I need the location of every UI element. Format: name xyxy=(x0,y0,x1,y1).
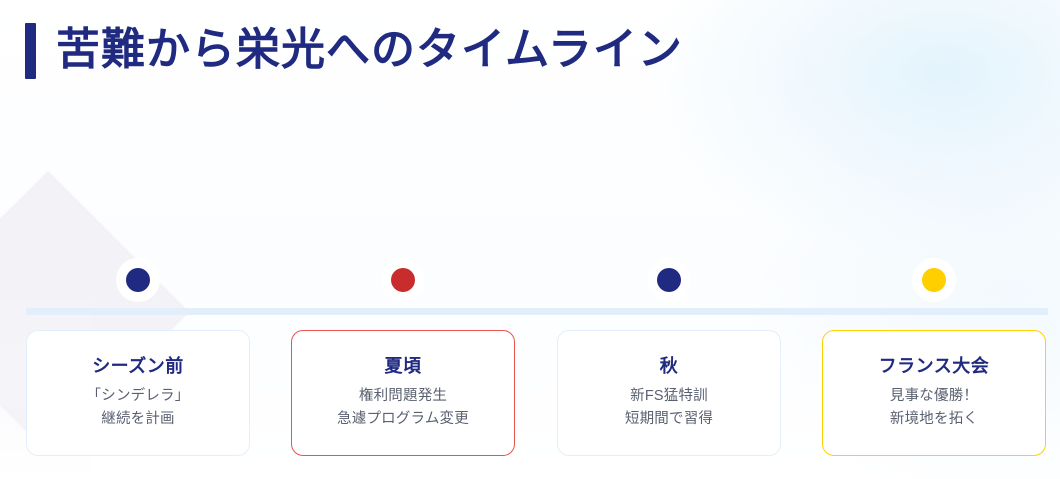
slide-canvas: 苦難から栄光へのタイムライン シーズン前 「シンデレラ」 継続を計画 夏頃 xyxy=(0,0,1060,479)
timeline-card-line-2-2: 急遽プログラム変更 xyxy=(337,408,469,431)
timeline-dot-3 xyxy=(657,268,681,292)
timeline-card-line-1-2: 継続を計画 xyxy=(87,408,190,431)
timeline-card-body-1: 「シンデレラ」 継続を計画 xyxy=(87,385,190,431)
timeline-card-line-3-2: 短期間で習得 xyxy=(625,408,713,431)
timeline-dot-ring-4 xyxy=(912,258,956,302)
timeline: シーズン前 「シンデレラ」 継続を計画 夏頃 権利問題発生 急遽プログラム変更 xyxy=(0,0,1060,479)
timeline-card-title-2: 夏頃 xyxy=(385,353,422,379)
timeline-dot-1 xyxy=(126,268,150,292)
timeline-node-2[interactable]: 夏頃 権利問題発生 急遽プログラム変更 xyxy=(291,258,515,458)
timeline-dot-4 xyxy=(922,268,946,292)
timeline-dot-ring-3 xyxy=(647,258,691,302)
timeline-card-body-3: 新FS猛特訓 短期間で習得 xyxy=(625,385,713,431)
timeline-card-2[interactable]: 夏頃 権利問題発生 急遽プログラム変更 xyxy=(291,330,515,456)
timeline-card-line-4-1: 見事な優勝！ xyxy=(890,385,978,408)
timeline-card-body-4: 見事な優勝！ 新境地を拓く xyxy=(890,385,978,431)
timeline-card-line-3-1: 新FS猛特訓 xyxy=(625,385,713,408)
timeline-card-title-1: シーズン前 xyxy=(92,353,184,379)
timeline-card-line-1-1: 「シンデレラ」 xyxy=(87,385,190,408)
timeline-card-line-2-1: 権利問題発生 xyxy=(337,385,469,408)
timeline-node-1[interactable]: シーズン前 「シンデレラ」 継続を計画 xyxy=(26,258,250,458)
timeline-card-line-4-2: 新境地を拓く xyxy=(890,408,978,431)
timeline-node-4[interactable]: フランス大会 見事な優勝！ 新境地を拓く xyxy=(822,258,1046,458)
timeline-card-1[interactable]: シーズン前 「シンデレラ」 継続を計画 xyxy=(26,330,250,456)
timeline-card-4[interactable]: フランス大会 見事な優勝！ 新境地を拓く xyxy=(822,330,1046,456)
timeline-dot-2 xyxy=(391,268,415,292)
timeline-card-title-4: フランス大会 xyxy=(879,353,990,379)
timeline-node-3[interactable]: 秋 新FS猛特訓 短期間で習得 xyxy=(557,258,781,458)
timeline-card-body-2: 権利問題発生 急遽プログラム変更 xyxy=(337,385,469,431)
timeline-dot-ring-2 xyxy=(381,258,425,302)
timeline-card-title-3: 秋 xyxy=(660,353,679,379)
timeline-card-3[interactable]: 秋 新FS猛特訓 短期間で習得 xyxy=(557,330,781,456)
timeline-dot-ring-1 xyxy=(116,258,160,302)
